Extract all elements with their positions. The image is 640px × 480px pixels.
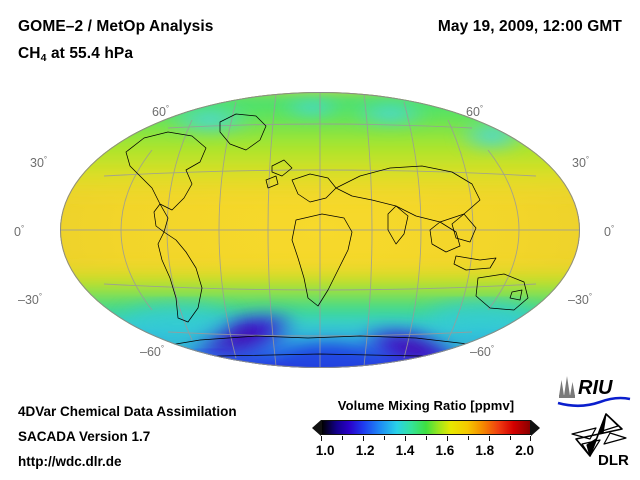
map-canvas bbox=[60, 92, 580, 368]
lat-label-right-30: 30 bbox=[572, 155, 589, 170]
colorbar-tick-2: 1.2 bbox=[356, 443, 375, 458]
riu-wordmark: RIU bbox=[578, 377, 613, 399]
pressure-level: at 55.4 hPa bbox=[47, 45, 134, 62]
lat-label-right-60: 60 bbox=[466, 104, 483, 119]
colorbar-tick-4: 1.6 bbox=[436, 443, 455, 458]
colorbar-title: Volume Mixing Ratio [ppmv] bbox=[312, 398, 540, 413]
riu-wave-icon bbox=[558, 398, 630, 406]
riu-logo: RIU bbox=[556, 374, 632, 408]
colorbar-strip bbox=[312, 419, 540, 436]
dlr-mark-icon bbox=[572, 414, 626, 456]
colorbar-tick-3: 1.4 bbox=[396, 443, 415, 458]
timestamp-label: May 19, 2009, 12:00 GMT bbox=[438, 18, 622, 36]
species-subscript: 4 bbox=[41, 52, 47, 64]
lat-label-right-m60: –60 bbox=[470, 344, 494, 359]
lat-label-left-0: 0 bbox=[14, 224, 24, 239]
footer-line-version: SACADA Version 1.7 bbox=[18, 429, 150, 444]
colorbar-tick-labels: 1.0 1.2 1.4 1.6 1.8 2.0 bbox=[321, 443, 531, 461]
coastlines bbox=[60, 92, 580, 368]
footer-line-url[interactable]: http://wdc.dlr.de bbox=[18, 454, 122, 469]
lat-label-left-60: 60 bbox=[152, 104, 169, 119]
colorbar-extend-high-icon bbox=[531, 420, 540, 436]
lat-label-right-0: 0 bbox=[604, 224, 614, 239]
dlr-wordmark: DLR bbox=[598, 452, 629, 468]
species-level-label: CH4 at 55.4 hPa bbox=[18, 45, 133, 63]
species-name: CH bbox=[18, 45, 41, 62]
colorbar-gradient bbox=[321, 420, 531, 435]
lat-label-right-m30: –30 bbox=[568, 292, 592, 307]
lat-label-left-m60: –60 bbox=[140, 344, 164, 359]
colorbar-tick-1: 1.0 bbox=[316, 443, 335, 458]
colorbar: Volume Mixing Ratio [ppmv] 1.0 1.2 1.4 1… bbox=[312, 398, 540, 461]
colorbar-extend-low-icon bbox=[312, 420, 321, 436]
colorbar-ticks bbox=[321, 436, 531, 443]
lat-label-left-m30: –30 bbox=[18, 292, 42, 307]
dlr-logo: DLR bbox=[566, 412, 634, 468]
footer-line-method: 4DVar Chemical Data Assimilation bbox=[18, 404, 237, 419]
colorbar-tick-6: 2.0 bbox=[515, 443, 534, 458]
page-title: GOME–2 / MetOp Analysis bbox=[18, 18, 214, 36]
lat-label-left-30: 30 bbox=[30, 155, 47, 170]
mollweide-map bbox=[60, 92, 580, 368]
riu-spires-icon bbox=[559, 376, 575, 398]
colorbar-tick-5: 1.8 bbox=[475, 443, 494, 458]
